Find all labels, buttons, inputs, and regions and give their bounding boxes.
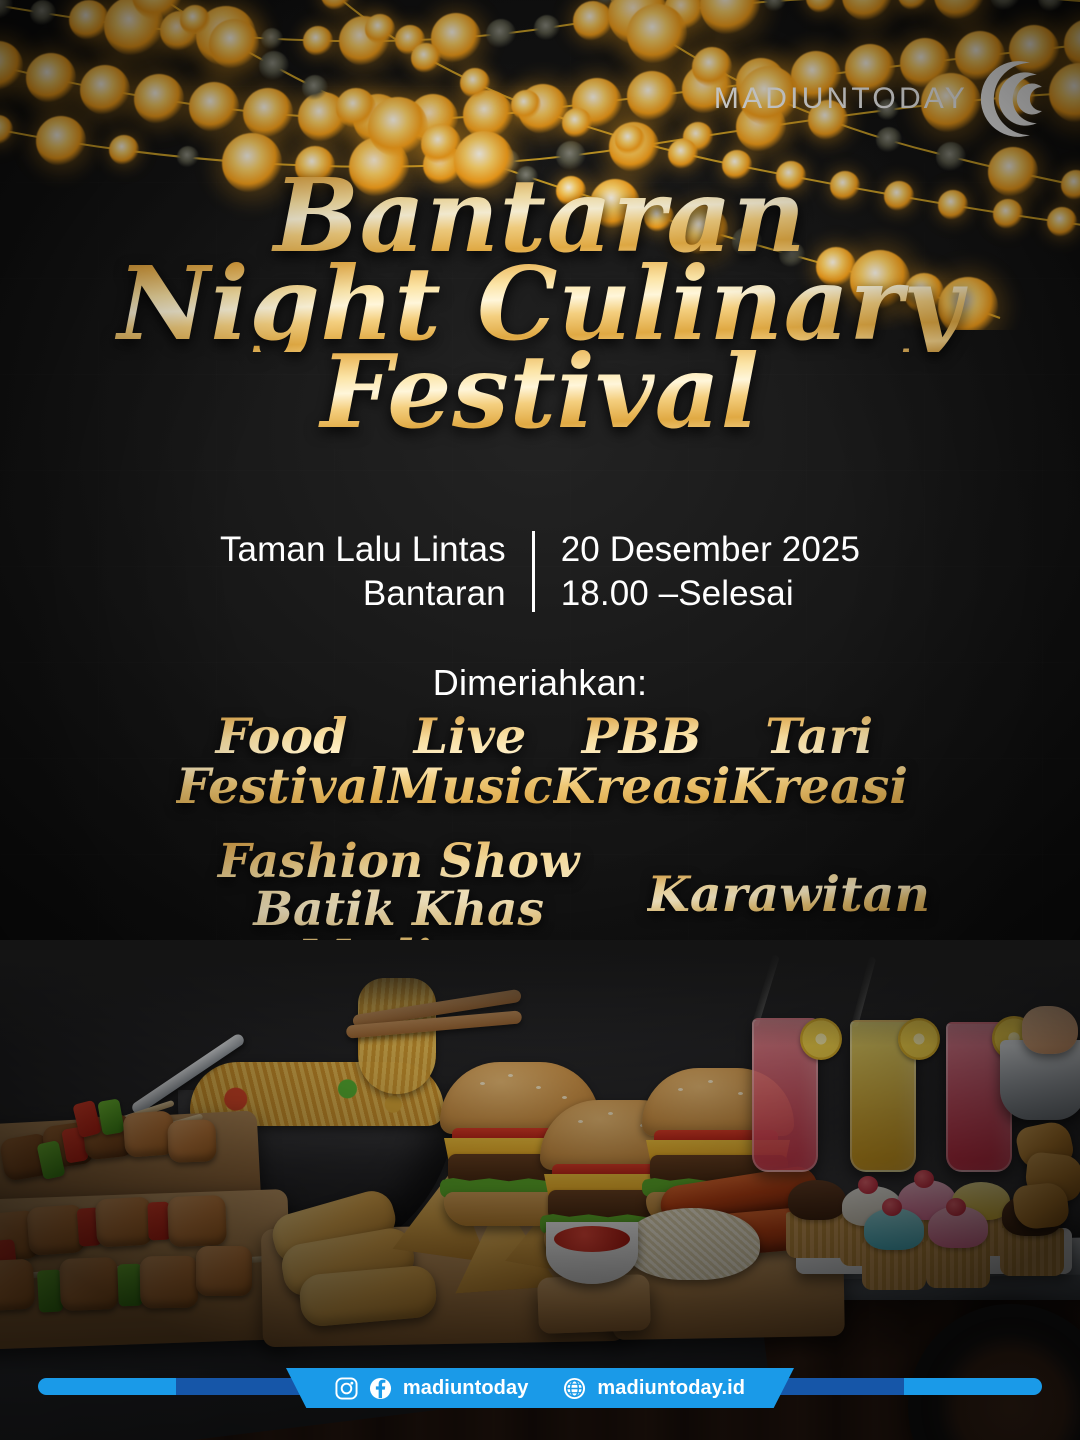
brand-logo: MADIUNTODAY (714, 56, 1054, 142)
lineup-item-line-1: Food (176, 712, 387, 762)
satay-meat (167, 1119, 216, 1163)
footer-bar-segment (772, 1378, 904, 1395)
social-handle-text: madiuntoday (403, 1378, 529, 1398)
light-bulb (30, 0, 56, 26)
light-bulb (627, 4, 687, 64)
lineup-item-line-2: Festival (176, 762, 387, 812)
light-bulb (259, 51, 289, 81)
globe-icon[interactable] (563, 1377, 586, 1400)
logo-wordmark: MADIUNTODAY (714, 84, 968, 114)
title-line-3: Festival (0, 344, 1080, 440)
lineup-heading: Dimeriahkan: (0, 662, 1080, 704)
light-bulb (460, 68, 490, 98)
light-bulb (511, 90, 541, 120)
food-photo-band (0, 940, 1080, 1440)
footer-social-bar: madiuntoday madiuntoday.id (0, 1370, 1080, 1404)
light-bulb (534, 15, 560, 41)
satay-meat (59, 1257, 119, 1311)
lineup-item-karawitan: Karawitan (647, 870, 930, 920)
footer-bar-segment (38, 1378, 176, 1395)
event-time: 18.00 –Selesai (561, 572, 860, 616)
sesame-seed (480, 1082, 485, 1085)
datetime-block: 20 Desember 2025 18.00 –Selesai (535, 528, 860, 616)
sesame-seed (608, 1112, 613, 1115)
light-bulb (365, 14, 395, 44)
lemon-slice (898, 1018, 940, 1060)
lineup-item-pbb-kreasi: PBB Kreasi (553, 712, 731, 812)
satay-meat (196, 1246, 252, 1296)
lineup-item-line-2: Music (387, 762, 553, 812)
light-bulb (109, 135, 139, 165)
lineup-row-top: Food Festival Live Music PBB Kreasi Tari… (176, 712, 904, 812)
social-banner: madiuntoday madiuntoday.id (286, 1368, 794, 1408)
footer-bar-segment (176, 1378, 308, 1395)
coleslaw (624, 1208, 760, 1280)
footer-bar-segment (904, 1378, 1042, 1395)
poster-canvas: MADIUNTODAY Bantaran Night Culinary Fest… (0, 0, 1080, 1440)
satay-meat (95, 1197, 153, 1248)
light-bulb (177, 146, 199, 168)
event-info-block: Taman Lalu Lintas Bantaran 20 Desember 2… (0, 528, 1080, 616)
light-bulb (562, 108, 592, 138)
raspberry-topping (882, 1198, 902, 1216)
cupcake-frosting (788, 1180, 846, 1220)
sesame-seed (678, 1088, 683, 1091)
satay-meat (140, 1255, 199, 1308)
raspberry-topping (946, 1198, 966, 1216)
venue-line-1: Taman Lalu Lintas (220, 528, 506, 572)
light-bulb (36, 116, 86, 166)
venue-line-2: Bantaran (220, 572, 506, 616)
venue-block: Taman Lalu Lintas Bantaran (220, 528, 532, 616)
lineup-item-food-festival: Food Festival (176, 712, 387, 812)
lineup-item-tari-kreasi: Tari Kreasi (730, 712, 908, 812)
hand-serving (1022, 1006, 1078, 1054)
sesame-seed (578, 1120, 583, 1123)
lineup-item-live-music: Live Music (387, 712, 553, 812)
satay-meat (167, 1195, 227, 1247)
raspberry-topping (914, 1170, 934, 1188)
sesame-seed (738, 1092, 743, 1095)
chili-sauce (554, 1226, 630, 1252)
sesame-seed (708, 1080, 713, 1083)
lineup-item-line-1: PBB (553, 712, 731, 762)
light-bulb (615, 125, 645, 155)
satay-meat (0, 1259, 35, 1312)
lineup-item-line-2: Kreasi (553, 762, 731, 812)
lineup-item-line-1: Live (387, 712, 553, 762)
lineup-item-line-1: Fashion Show (150, 838, 647, 886)
instagram-icon[interactable] (335, 1377, 358, 1400)
sesame-seed (562, 1096, 567, 1099)
facebook-icon[interactable] (369, 1377, 392, 1400)
sesame-seed (536, 1086, 541, 1089)
light-bulb (209, 19, 259, 69)
light-bulb (411, 43, 441, 73)
poster-title: Bantaran Night Culinary Festival (0, 168, 1080, 440)
lineup-item-line-2: Kreasi (730, 762, 908, 812)
event-date: 20 Desember 2025 (561, 528, 860, 572)
crescent-swoosh-icon (968, 56, 1054, 142)
light-bulb (486, 19, 516, 49)
raspberry-topping (858, 1176, 878, 1194)
sesame-seed (508, 1074, 513, 1077)
website-text: madiuntoday.id (597, 1378, 745, 1398)
lineup-item-line-1: Tari (730, 712, 908, 762)
lemon-slice (800, 1018, 842, 1060)
